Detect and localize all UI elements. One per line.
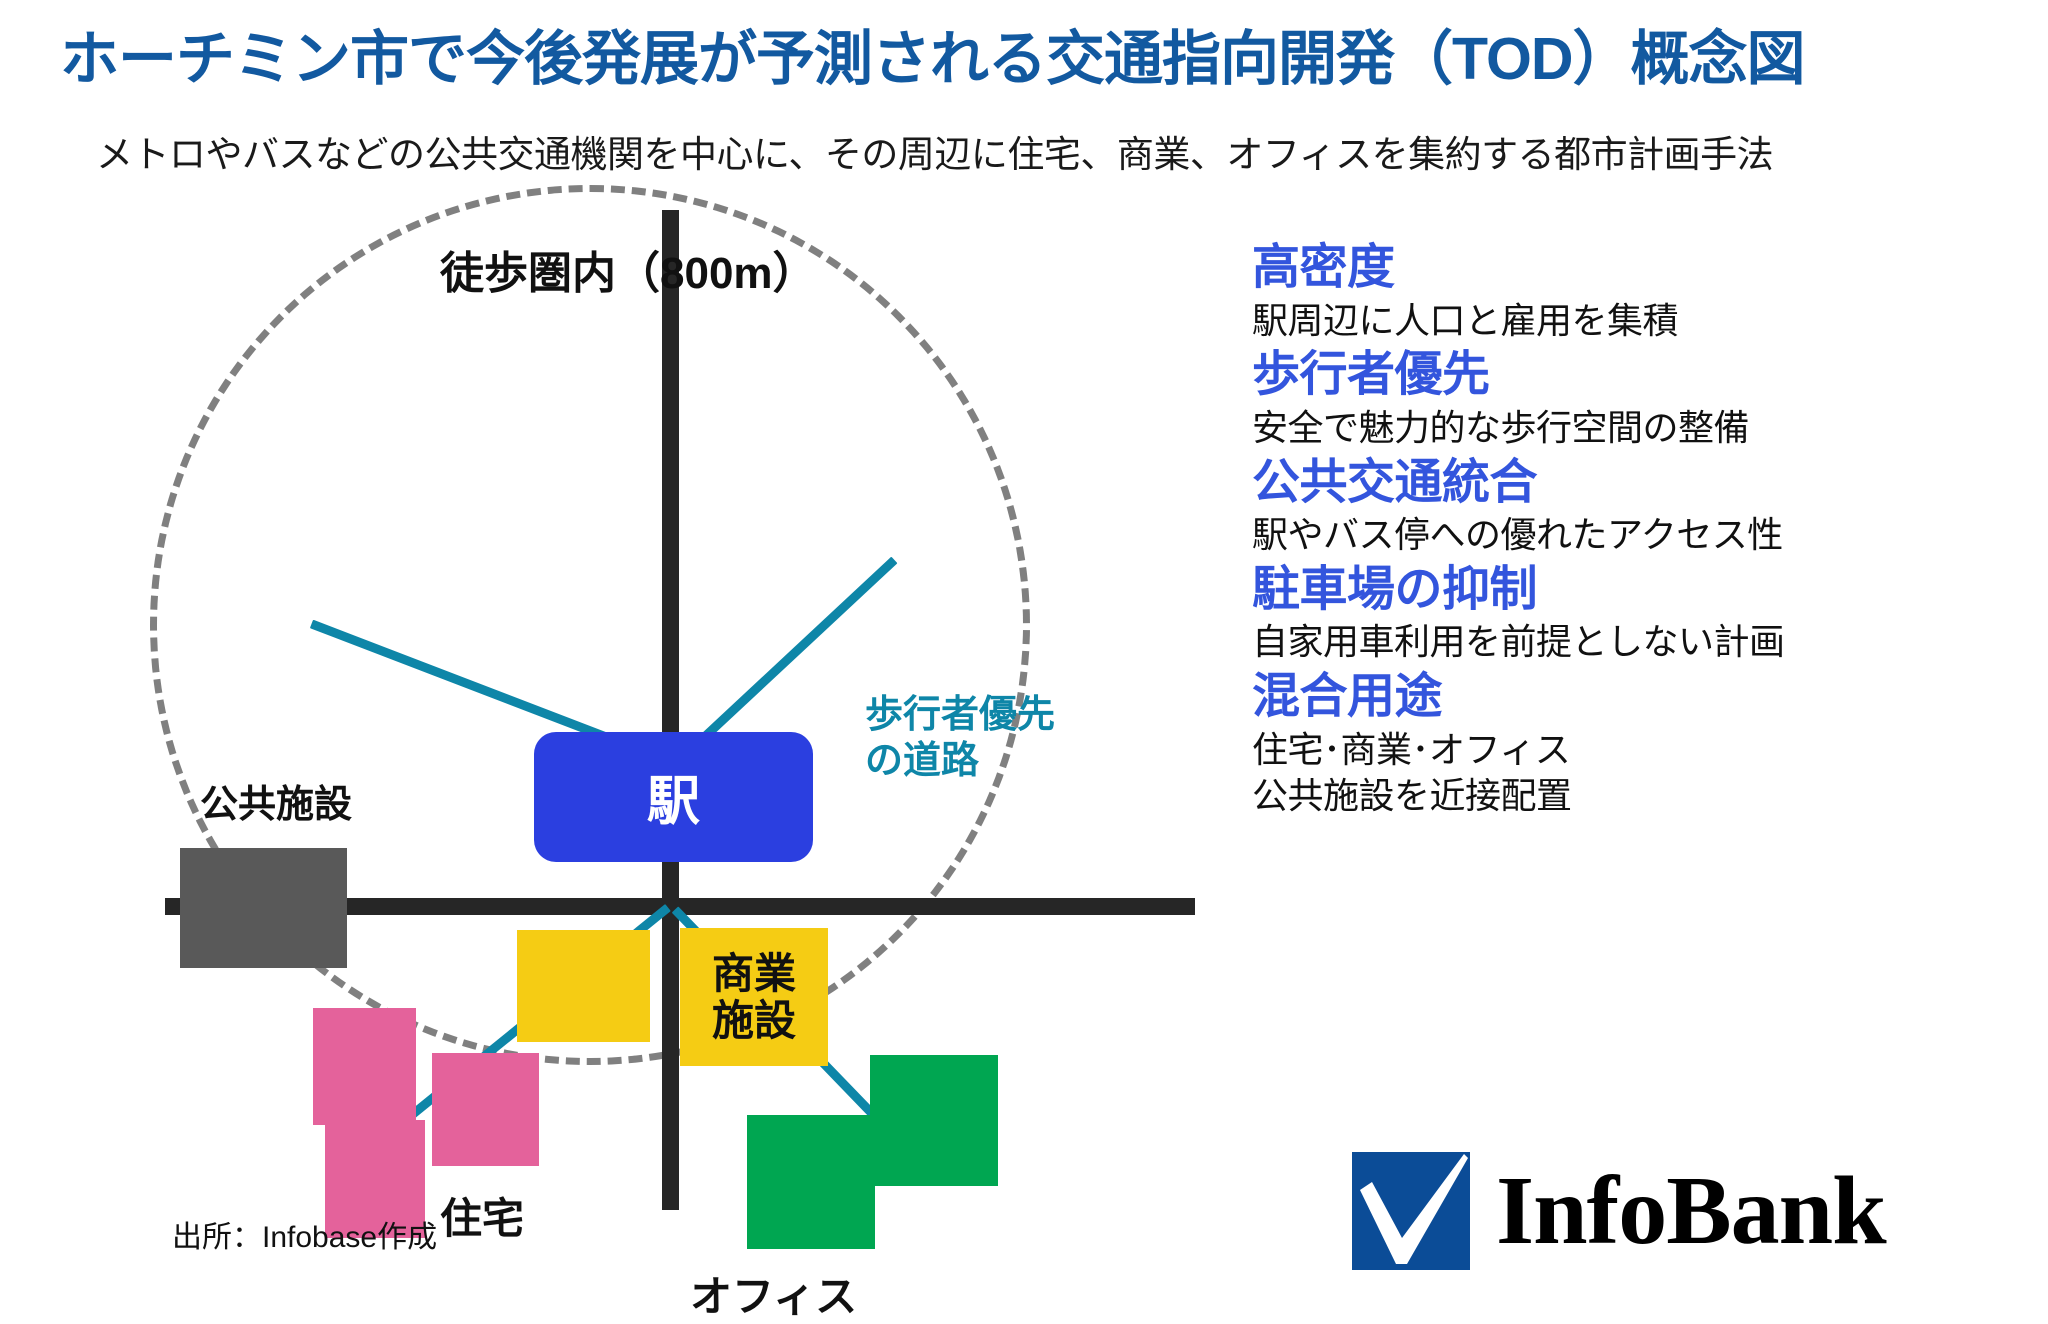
feature-item-5: 混合用途 住宅･商業･オフィス 公共施設を近接配置 — [1252, 669, 2012, 819]
page-title: ホーチミン市で今後発展が予測される交通指向開発（TOD）概念図 — [60, 26, 2000, 94]
commercial-block-main: 商業 施設 — [680, 928, 828, 1066]
feature-body-line: 住宅･商業･オフィス — [1252, 728, 2012, 773]
checkmark-icon — [1352, 1152, 1470, 1270]
feature-item-2: 歩行者優先 安全で魅力的な歩行空間の整備 — [1252, 347, 2012, 450]
feature-item-1: 高密度 駅周辺に人口と雇用を集積 — [1252, 240, 2012, 343]
residential-block-1 — [313, 1008, 416, 1125]
feature-body-line: 自家用車利用を前提としない計画 — [1252, 620, 2012, 665]
feature-body-line: 駅周辺に人口と雇用を集積 — [1252, 299, 2012, 344]
feature-heading: 高密度 — [1252, 240, 2012, 297]
feature-body-line: 安全で魅力的な歩行空間の整備 — [1252, 406, 2012, 451]
source-note: 出所：Infobase作成 — [172, 1212, 437, 1256]
office-label: オフィス — [690, 1263, 857, 1324]
feature-heading: 混合用途 — [1252, 669, 2012, 726]
feature-heading: 駐車場の抑制 — [1252, 562, 2012, 619]
feature-item-4: 駐車場の抑制 自家用車利用を前提としない計画 — [1252, 562, 2012, 665]
station-node: 駅 — [534, 732, 813, 862]
tod-diagram: 商業 施設 駅 徒歩圏内（800m） 公共施設 住宅 オフィス 歩行者優先 の道… — [20, 185, 1220, 1195]
feature-heading: 歩行者優先 — [1252, 347, 2012, 404]
feature-body-line: 公共施設を近接配置 — [1252, 774, 2012, 819]
feature-item-3: 公共交通統合 駅やバス停への優れたアクセス性 — [1252, 455, 2012, 558]
infobank-logo: InfoBank — [1352, 1152, 1886, 1270]
infographic-root: ホーチミン市で今後発展が予測される交通指向開発（TOD）概念図 メトロやバスなど… — [0, 0, 2048, 1300]
residential-block-3 — [432, 1053, 539, 1166]
pedestrian-road-label-line2: の道路 — [865, 739, 1055, 785]
road-vertical — [662, 210, 679, 1210]
civic-facility-block — [180, 848, 347, 968]
features-panel: 高密度 駅周辺に人口と雇用を集積 歩行者優先 安全で魅力的な歩行空間の整備 公共… — [1252, 240, 2012, 823]
infobank-wordmark: InfoBank — [1496, 1162, 1886, 1260]
pedestrian-road-label-line1: 歩行者優先 — [865, 693, 1055, 739]
residential-label: 住宅 — [440, 1185, 524, 1246]
commercial-label-line1: 商業 — [712, 950, 796, 997]
feature-heading: 公共交通統合 — [1252, 455, 2012, 512]
walk-radius-label: 徒歩圏内（800m） — [440, 237, 817, 301]
pedestrian-road-label: 歩行者優先 の道路 — [865, 693, 1055, 784]
office-block-2 — [870, 1055, 998, 1186]
office-block-1 — [747, 1115, 875, 1249]
feature-body-line: 駅やバス停への優れたアクセス性 — [1252, 513, 2012, 558]
commercial-label-line2: 施設 — [712, 997, 796, 1044]
civic-facility-label: 公共施設 — [200, 773, 352, 828]
station-label: 駅 — [647, 759, 700, 835]
commercial-block-secondary — [517, 930, 650, 1042]
page-subtitle: メトロやバスなどの公共交通機関を中心に、その周辺に住宅、商業、オフィスを集約する… — [96, 124, 2026, 178]
